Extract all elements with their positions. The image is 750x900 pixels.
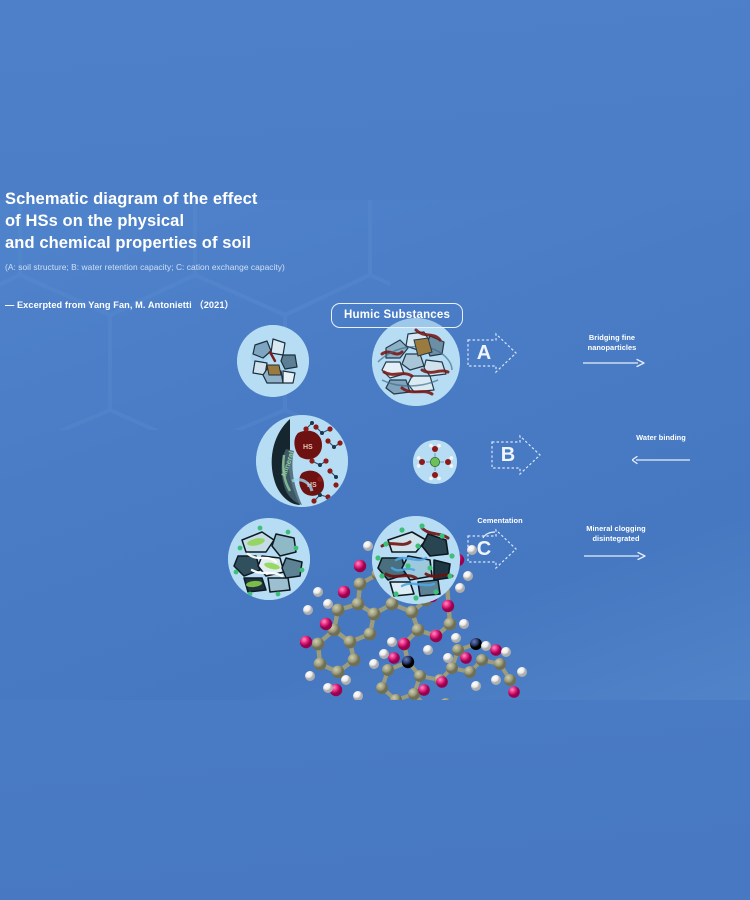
caption-block: Schematic diagram of the effect of HSs o… — [5, 188, 345, 311]
marker-b: B — [490, 434, 542, 476]
panel-b-flow-label: Water binding — [628, 433, 694, 443]
panel-c-arrow-icon — [584, 551, 646, 561]
svg-text:HS: HS — [303, 444, 313, 451]
page-title: Schematic diagram of the effect of HSs o… — [5, 188, 345, 254]
panel-b-start-circle — [413, 440, 457, 484]
attribution-line: — Excerpted from Yang Fan, M. Antonietti… — [5, 297, 345, 311]
title-line-2: of HSs on the physical — [5, 210, 345, 232]
panel-a-start-circle — [237, 325, 309, 397]
panel-b-end-circle: Mineral HS HS — [256, 415, 348, 507]
panel-a-end-circle — [372, 318, 460, 406]
panel-b-arrow-icon — [632, 455, 690, 465]
panel-c-flow-label: Mineral clogging disintegrated — [580, 524, 652, 543]
title-line-3: and chemical properties of soil — [5, 232, 345, 254]
marker-b-letter: B — [490, 434, 526, 476]
figure-canvas: Mineral HS HS — [0, 0, 750, 900]
page-subtitle: (A: soil structure; B: water retention c… — [5, 261, 345, 273]
title-line-1: Schematic diagram of the effect — [5, 188, 345, 210]
panel-c-cementation-arrow-icon — [482, 531, 496, 539]
panel-c-end-circle — [372, 516, 460, 604]
marker-a-letter: A — [466, 332, 502, 374]
marker-a: A — [466, 332, 518, 374]
humic-substances-label: Humic Substances — [331, 303, 463, 328]
panel-c-start-circle — [228, 518, 310, 600]
panel-c-cementation-label: Cementation — [470, 516, 530, 526]
panel-a-arrow-icon — [583, 358, 645, 368]
panel-a-flow-label: Bridging fine nanoparticles — [579, 333, 645, 352]
